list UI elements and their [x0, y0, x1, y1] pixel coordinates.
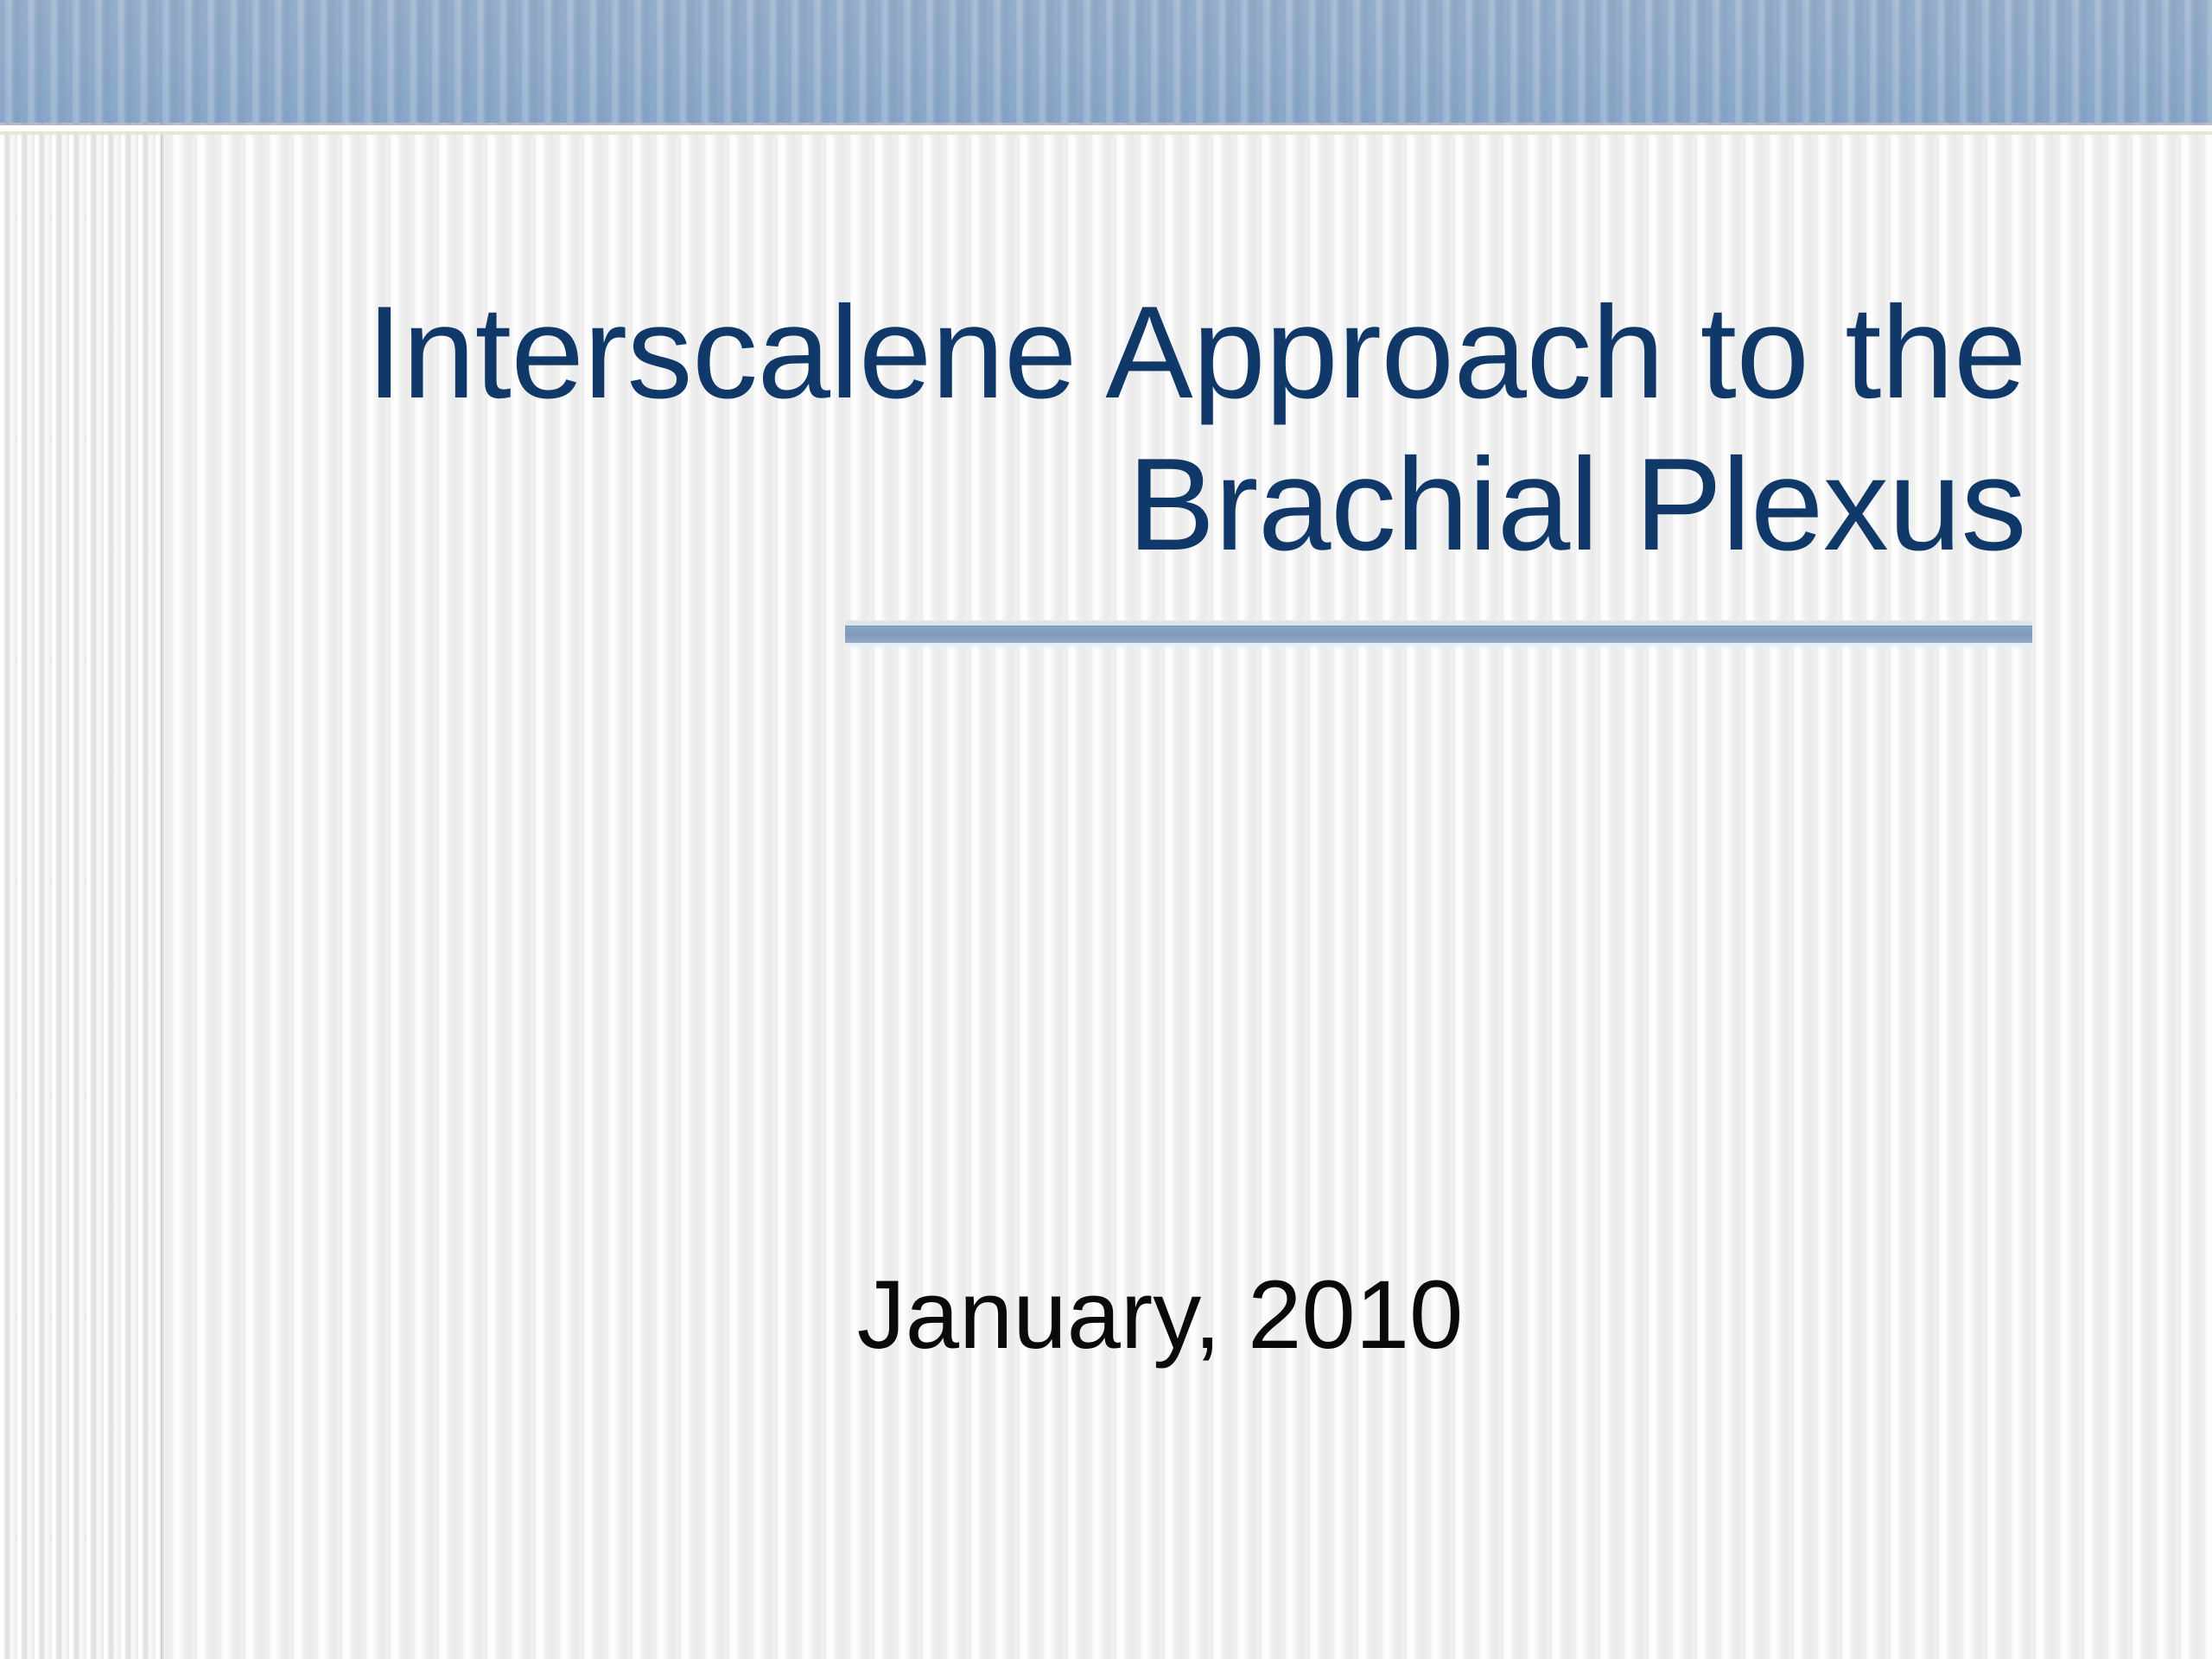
subtitle-block: January, 2010: [294, 1257, 2026, 1373]
slide-subtitle: January, 2010: [294, 1257, 2026, 1373]
page-title: Interscalene Approach to the Brachial Pl…: [294, 276, 2026, 582]
top-banner: [0, 0, 2212, 123]
title-block: Interscalene Approach to the Brachial Pl…: [294, 276, 2026, 582]
title-divider-bar: [845, 626, 2032, 643]
striped-background: [0, 0, 2212, 1659]
title-divider-rule: [845, 620, 2032, 650]
left-column-edge-divider: [161, 0, 165, 1659]
top-banner-tan-accent-line: [0, 131, 2212, 135]
top-banner-white-gap: [0, 125, 2212, 131]
striped-background-left-column: [0, 0, 164, 1659]
presentation-slide: Interscalene Approach to the Brachial Pl…: [0, 0, 2212, 1659]
title-divider-highlight-bottom: [845, 643, 2032, 650]
